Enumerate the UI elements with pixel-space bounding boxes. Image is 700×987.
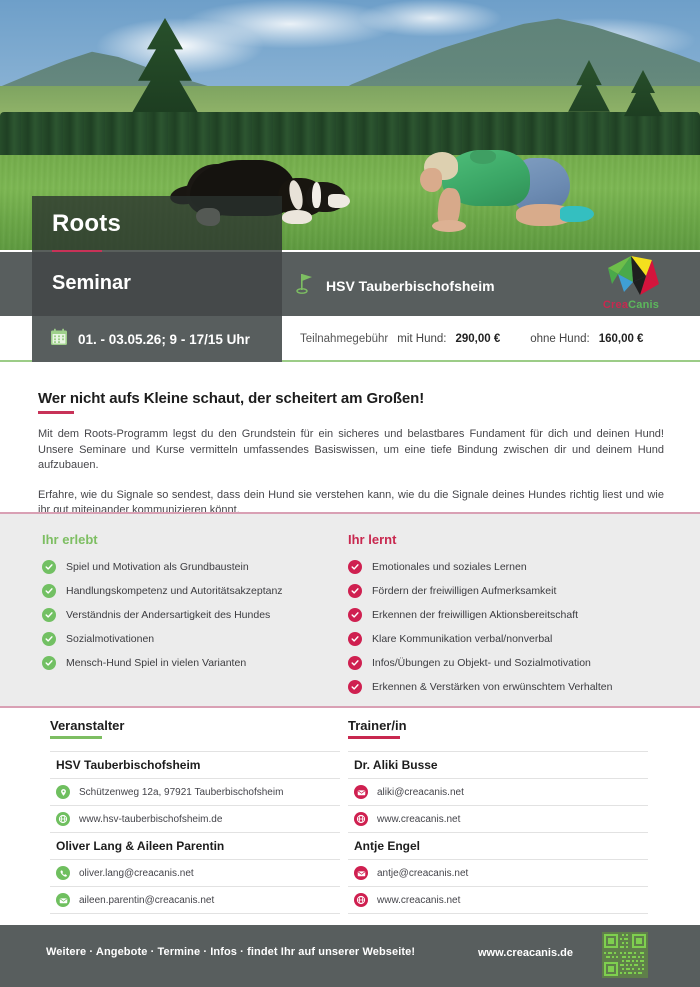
intro-paragraph-1: Mit dem Roots-Programm legst du den Grun… bbox=[38, 427, 664, 474]
organizer-contact-name: Oliver Lang & Aileen Parentin bbox=[50, 833, 340, 860]
mail-icon bbox=[56, 893, 70, 907]
trainer-name: Antje Engel bbox=[348, 833, 648, 860]
trainer-website: www.creacanis.net bbox=[377, 895, 460, 906]
contact-row-address[interactable]: Schützenweg 12a, 97921 Tauberbischofshei… bbox=[50, 779, 340, 806]
check-circle-icon bbox=[348, 632, 362, 646]
person-face bbox=[420, 168, 442, 192]
trainer-list: Dr. Aliki Busse aliki@creacanis.net www.… bbox=[348, 751, 648, 914]
trainer-email: antje@creacanis.net bbox=[377, 868, 468, 879]
calendar-icon bbox=[50, 328, 68, 351]
check-circle-icon bbox=[42, 560, 56, 574]
trainer-block: Trainer/in Dr. Aliki Busse aliki@creacan… bbox=[348, 718, 648, 914]
fee-without-dog-value: 160,00 € bbox=[599, 333, 644, 345]
organizer-address: Schützenweg 12a, 97921 Tauberbischofshei… bbox=[79, 787, 283, 798]
organizer-website: www.hsv-tauberbischofsheim.de bbox=[79, 814, 222, 825]
dog-muzzle bbox=[328, 194, 350, 208]
learn-column: Ihr lernt Emotionales und soziales Lerne… bbox=[348, 532, 678, 704]
footer-url[interactable]: www.creacanis.de bbox=[478, 947, 573, 959]
logo-word-canis: Canis bbox=[628, 299, 659, 311]
organizer-email-2: aileen.parentin@creacanis.net bbox=[79, 895, 214, 906]
organizer-block: Veranstalter HSV Tauberbischofsheim Schü… bbox=[50, 718, 340, 914]
contacts-section: Veranstalter HSV Tauberbischofsheim Schü… bbox=[0, 718, 700, 916]
lists-section: Ihr erlebt Spiel und Motivation als Grun… bbox=[0, 512, 700, 708]
list-item-label: Klare Kommunikation verbal/nonverbal bbox=[372, 633, 552, 645]
mail-icon bbox=[354, 866, 368, 880]
experience-title: Ihr erlebt bbox=[42, 532, 342, 547]
check-circle-icon bbox=[348, 608, 362, 622]
list-item: Erkennen & Verstärken von erwünschtem Ve… bbox=[348, 680, 678, 694]
list-item-label: Erkennen & Verstärken von erwünschtem Ve… bbox=[372, 681, 612, 693]
list-item-label: Spiel und Motivation als Grundbaustein bbox=[66, 561, 249, 573]
list-item: Handlungskompetenz und Autoritätsakzepta… bbox=[42, 584, 342, 598]
fee-label: Teilnahmegebühr bbox=[300, 333, 388, 345]
contact-row-website[interactable]: www.creacanis.net bbox=[348, 806, 648, 833]
person-shoe bbox=[560, 206, 594, 222]
list-item-label: Infos/Übungen zu Objekt- und Sozialmotiv… bbox=[372, 657, 591, 669]
intro-heading-rule bbox=[38, 411, 74, 414]
trainer-website: www.creacanis.net bbox=[377, 814, 460, 825]
organizer-email-1: oliver.lang@creacanis.net bbox=[79, 868, 194, 879]
page-title: Roots bbox=[32, 210, 121, 238]
title-box: Roots bbox=[32, 196, 282, 252]
dog-front-paw bbox=[282, 210, 312, 224]
person-collar bbox=[470, 150, 496, 164]
list-item-label: Verständnis der Andersartigkeit des Hund… bbox=[66, 609, 270, 621]
event-type-label: Seminar bbox=[52, 272, 131, 295]
list-item-label: Sozialmotivationen bbox=[66, 633, 154, 645]
check-circle-icon bbox=[42, 656, 56, 670]
globe-icon bbox=[56, 812, 70, 826]
contact-row-email[interactable]: aileen.parentin@creacanis.net bbox=[50, 887, 340, 914]
person-hand bbox=[432, 220, 466, 232]
person-figure bbox=[420, 142, 590, 234]
fee-without-dog-label: ohne Hund: bbox=[530, 333, 589, 345]
check-circle-icon bbox=[42, 608, 56, 622]
hedge-row bbox=[0, 112, 700, 160]
check-circle-icon bbox=[42, 584, 56, 598]
list-item: Klare Kommunikation verbal/nonverbal bbox=[348, 632, 678, 646]
creacanis-logo: CreaCanis bbox=[592, 254, 670, 314]
phone-icon bbox=[56, 866, 70, 880]
fee-with-dog-label: mit Hund: bbox=[397, 333, 446, 345]
intro-heading: Wer nicht aufs Kleine schaut, der scheit… bbox=[38, 390, 664, 407]
contact-row-email[interactable]: aliki@creacanis.net bbox=[348, 779, 648, 806]
trainer-title: Trainer/in bbox=[348, 718, 648, 733]
list-item: Spiel und Motivation als Grundbaustein bbox=[42, 560, 342, 574]
contact-row-email[interactable]: oliver.lang@creacanis.net bbox=[50, 860, 340, 887]
check-circle-icon bbox=[42, 632, 56, 646]
organizer-list: HSV Tauberbischofsheim Schützenweg 12a, … bbox=[50, 751, 340, 914]
list-item: Emotionales und soziales Lernen bbox=[348, 560, 678, 574]
trainer-name: Dr. Aliki Busse bbox=[348, 752, 648, 779]
trainer-email: aliki@creacanis.net bbox=[377, 787, 464, 798]
learn-title: Ihr lernt bbox=[348, 532, 678, 547]
event-date: 01. - 03.05.26; 9 - 17/15 Uhr bbox=[78, 332, 250, 347]
list-item: Mensch-Hund Spiel in vielen Varianten bbox=[42, 656, 342, 670]
venue-name: HSV Tauberbischofsheim bbox=[326, 278, 495, 294]
experience-column: Ihr erlebt Spiel und Motivation als Grun… bbox=[42, 532, 342, 680]
fee-with-dog-value: 290,00 € bbox=[455, 333, 500, 345]
organizer-name: HSV Tauberbischofsheim bbox=[50, 752, 340, 779]
dog-blaze bbox=[312, 182, 321, 208]
list-item: Verständnis der Andersartigkeit des Hund… bbox=[42, 608, 342, 622]
list-item: Infos/Übungen zu Objekt- und Sozialmotiv… bbox=[348, 656, 678, 670]
contact-row-email[interactable]: antje@creacanis.net bbox=[348, 860, 648, 887]
contact-row-website[interactable]: www.creacanis.net bbox=[348, 887, 648, 914]
check-circle-icon bbox=[348, 560, 362, 574]
list-item-label: Fördern der freiwilligen Aufmerksamkeit bbox=[372, 585, 556, 597]
trainer-title-rule bbox=[348, 736, 400, 739]
organizer-title-rule bbox=[50, 736, 102, 739]
footer-text: Weitere · Angebote · Termine · Infos · f… bbox=[46, 946, 415, 958]
check-circle-icon bbox=[348, 680, 362, 694]
flag-icon bbox=[296, 272, 316, 299]
list-item: Fördern der freiwilligen Aufmerksamkeit bbox=[348, 584, 678, 598]
check-circle-icon bbox=[348, 584, 362, 598]
intro-section: Wer nicht aufs Kleine schaut, der scheit… bbox=[38, 390, 664, 519]
fee-row: Teilnahmegebühr mit Hund: 290,00 € ohne … bbox=[300, 316, 643, 362]
list-item: Erkennen der freiwilligen Aktionsbereits… bbox=[348, 608, 678, 622]
qr-code-icon[interactable] bbox=[602, 932, 648, 978]
flyer-page: Roots Seminar HSV Tauberbischofsheim bbox=[0, 0, 700, 987]
contact-row-website[interactable]: www.hsv-tauberbischofsheim.de bbox=[50, 806, 340, 833]
check-circle-icon bbox=[348, 656, 362, 670]
list-item-label: Handlungskompetenz und Autoritätsakzepta… bbox=[66, 585, 283, 597]
venue-block: HSV Tauberbischofsheim bbox=[296, 272, 495, 299]
mail-icon bbox=[354, 785, 368, 799]
date-box: 01. - 03.05.26; 9 - 17/15 Uhr bbox=[32, 316, 282, 362]
logo-wordmark: CreaCanis bbox=[603, 299, 659, 311]
location-pin-icon bbox=[56, 785, 70, 799]
dog-head-logo-icon bbox=[602, 254, 660, 298]
logo-word-crea: Crea bbox=[603, 299, 628, 311]
globe-icon bbox=[354, 812, 368, 826]
organizer-title: Veranstalter bbox=[50, 718, 340, 733]
list-item-label: Mensch-Hund Spiel in vielen Varianten bbox=[66, 657, 246, 669]
list-item-label: Emotionales und soziales Lernen bbox=[372, 561, 527, 573]
list-item-label: Erkennen der freiwilligen Aktionsbereits… bbox=[372, 609, 578, 621]
list-item: Sozialmotivationen bbox=[42, 632, 342, 646]
globe-icon bbox=[354, 893, 368, 907]
